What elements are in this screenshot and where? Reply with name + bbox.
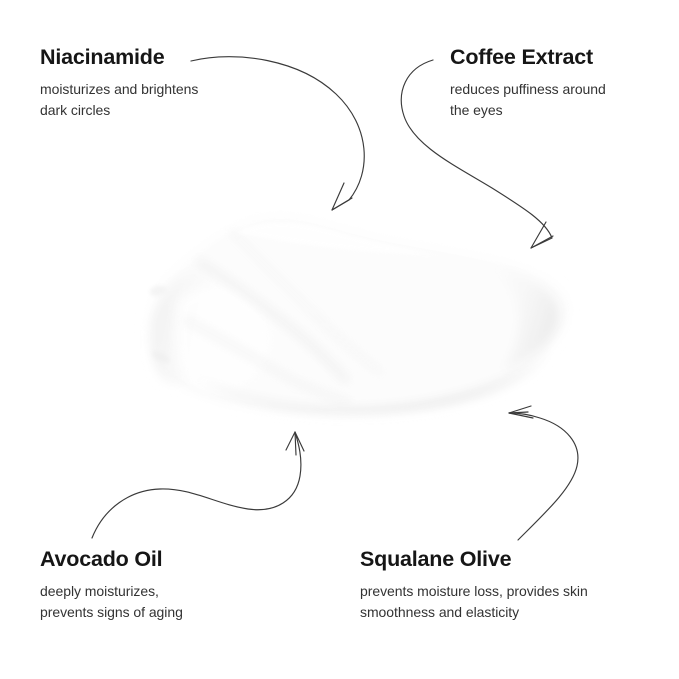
callout-squalane-olive: Squalane Olive prevents moisture loss, p…: [360, 546, 588, 622]
callout-avocado-oil-title: Avocado Oil: [40, 546, 183, 572]
callout-avocado-oil-description: deeply moisturizes, prevents signs of ag…: [40, 581, 183, 622]
callout-coffee-extract: Coffee Extract reduces puffiness around …: [450, 44, 606, 120]
callout-niacinamide-title: Niacinamide: [40, 44, 198, 70]
callout-avocado-oil: Avocado Oil deeply moisturizes, prevents…: [40, 546, 183, 622]
callout-coffee-extract-description: reduces puffiness around the eyes: [450, 79, 606, 120]
callout-squalane-olive-description: prevents moisture loss, provides skin sm…: [360, 581, 588, 622]
callout-niacinamide: Niacinamide moisturizes and brightens da…: [40, 44, 198, 120]
arrow-niacinamide: [191, 57, 364, 210]
callout-coffee-extract-title: Coffee Extract: [450, 44, 606, 70]
infographic-canvas: Niacinamide moisturizes and brightens da…: [0, 0, 679, 679]
arrow-avocado: [92, 432, 304, 538]
arrow-squalane: [509, 406, 578, 540]
callout-squalane-olive-title: Squalane Olive: [360, 546, 588, 572]
callout-niacinamide-description: moisturizes and brightens dark circles: [40, 79, 198, 120]
